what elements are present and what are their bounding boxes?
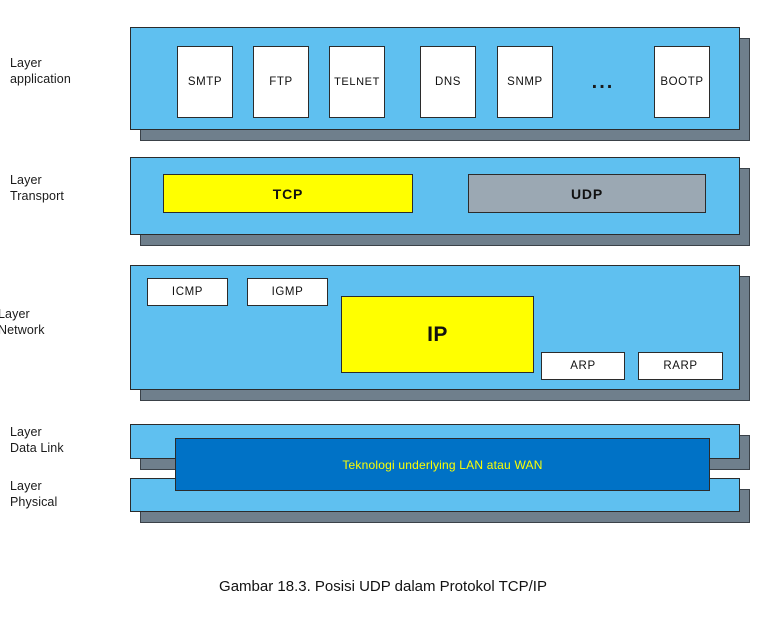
underlying-technology-box[interactable]: Teknologi underlying LAN atau WAN <box>175 438 710 491</box>
protocol-chip-label: FTP <box>269 76 293 88</box>
protocol-chip-label: ICMP <box>172 286 203 298</box>
layer-label-datalink: Layer Data Link <box>10 424 64 456</box>
protocol-chip-label: RARP <box>663 360 697 372</box>
protocol-chip-label: SMTP <box>188 76 222 88</box>
protocol-chip-telnet[interactable]: TELNET <box>329 46 385 118</box>
protocol-chip-smtp[interactable]: SMTP <box>177 46 233 118</box>
protocol-chip-rarp[interactable]: RARP <box>638 352 723 380</box>
layer-label-physical: Layer Physical <box>10 478 57 510</box>
underlying-technology-label: Teknologi underlying LAN atau WAN <box>342 458 542 472</box>
protocol-chip-label: BOOTP <box>660 76 703 88</box>
protocol-chip-label: IP <box>427 323 448 347</box>
protocol-chip-icmp[interactable]: ICMP <box>147 278 228 306</box>
protocol-chip-label: IGMP <box>272 286 304 298</box>
protocol-chip-label: TELNET <box>334 76 380 88</box>
protocol-chip-bootp[interactable]: BOOTP <box>654 46 710 118</box>
protocol-chip-udp[interactable]: UDP <box>468 174 706 213</box>
protocol-chip-label: TCP <box>273 186 303 202</box>
protocol-chip-ip[interactable]: IP <box>341 296 534 373</box>
layer-label-transport: Layer Transport <box>10 172 64 204</box>
protocol-chip-dns[interactable]: DNS <box>420 46 476 118</box>
protocol-chip-label: ARP <box>570 360 595 372</box>
protocol-chip-igmp[interactable]: IGMP <box>247 278 328 306</box>
protocol-chip-snmp[interactable]: SNMP <box>497 46 553 118</box>
protocol-chip-tcp[interactable]: TCP <box>163 174 413 213</box>
protocol-chip-label: UDP <box>571 186 603 202</box>
layer-label-network: Layer Network <box>0 306 45 338</box>
protocol-ellipsis-label: ... <box>592 71 615 94</box>
protocol-chip-label: DNS <box>435 76 461 88</box>
figure-caption: Gambar 18.3. Posisi UDP dalam Protokol T… <box>0 578 766 595</box>
protocol-chip-arp[interactable]: ARP <box>541 352 625 380</box>
layer-label-application: Layer application <box>10 55 71 87</box>
protocol-chip-label: SNMP <box>507 76 543 88</box>
tcp-ip-protocol-stack-diagram: Layer application Layer Transport Layer … <box>0 0 766 630</box>
protocol-chip-ftp[interactable]: FTP <box>253 46 309 118</box>
protocol-ellipsis-icon: ... <box>563 46 643 118</box>
